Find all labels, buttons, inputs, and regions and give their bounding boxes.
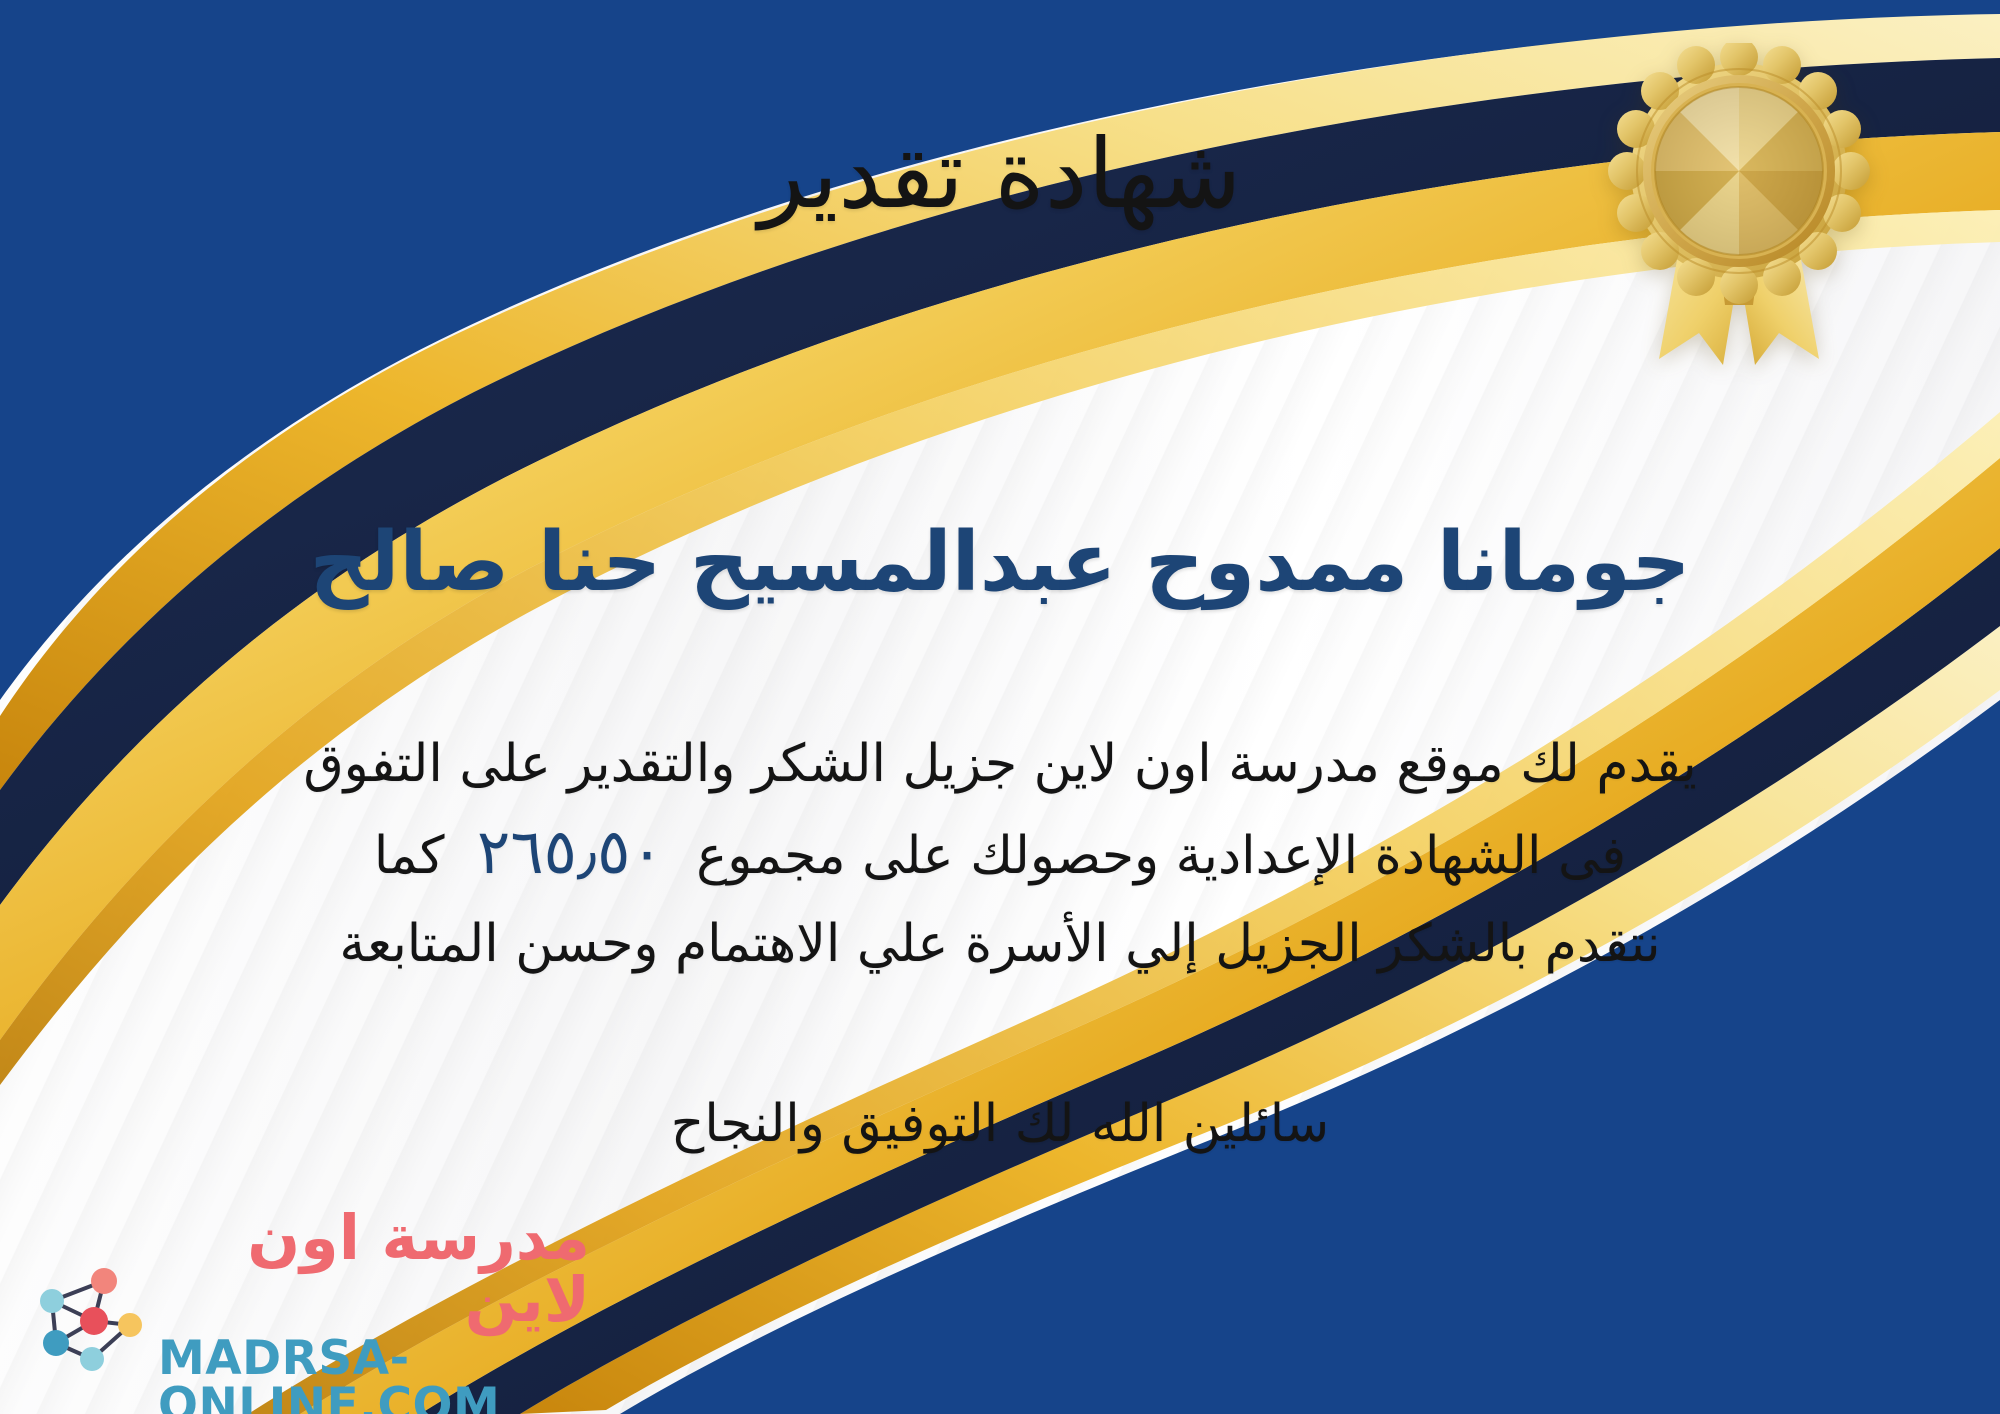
body-line-3: نتقدم بالشكر الجزيل إلي الأسرة علي الاهت… [60,900,1940,988]
body-line-2-suffix: كما [374,826,445,886]
body-line-2-prefix: فى الشهادة الإعدادية وحصولك على مجموع [696,826,1626,886]
brand-wordmark: مدرسة اون لاين MADRSA-ONLINE.COM [158,1207,590,1414]
network-nodes-icon [30,1259,148,1377]
total-score-value: ٢٦٥٫٥٠ [461,815,680,888]
page-title: شهادة تقدير [0,124,2000,225]
recipient-name: جومانا ممدوح عبدالمسيح حنا صالح [0,516,2000,610]
brand-domain: MADRSA-ONLINE.COM [158,1335,590,1414]
certificate-canvas: شهادة تقدير جومانا ممدوح عبدالمسيح حنا ص… [0,0,2000,1414]
body-line-2: فى الشهادة الإعدادية وحصولك على مجموع ٢٦… [60,808,1940,900]
brand-arabic-name: مدرسة اون لاين [158,1207,590,1331]
closing-line: سائلين الله لك التوفيق والنجاح [0,1080,2000,1168]
brand-logo[interactable]: مدرسة اون لاين MADRSA-ONLINE.COM [30,1248,590,1388]
body-line-1: يقدم لك موقع مدرسة اون لاين جزيل الشكر و… [60,720,1940,808]
body-text: يقدم لك موقع مدرسة اون لاين جزيل الشكر و… [60,720,1940,988]
